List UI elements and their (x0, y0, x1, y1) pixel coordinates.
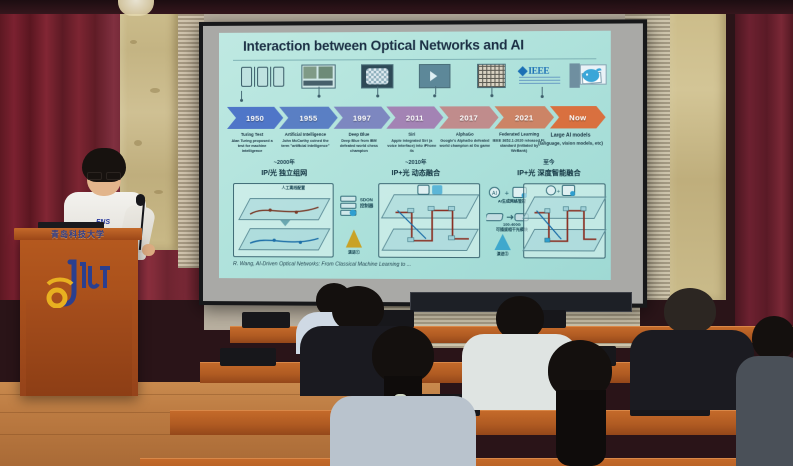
evolution-arrow-2 (494, 234, 510, 250)
sdon-controller-icon (340, 195, 358, 222)
evolution-step-2-label: 演进② (486, 251, 519, 256)
audience-shoulders (330, 396, 476, 466)
timeline-icon-row: IEEE (229, 63, 604, 99)
timeline-caption-text: Google's AlphaGo defeated world champion… (440, 138, 490, 148)
venue-name-plaque: 青岛科技大学 (18, 229, 138, 240)
microphone-head (136, 194, 145, 206)
projection-screen: Interaction between Optical Networks and… (199, 19, 647, 307)
timeline-caption-heading: Turing Test (228, 132, 276, 138)
lecture-hall-photo: Interaction between Optical Networks and… (0, 0, 793, 466)
chessboard-icon (361, 64, 393, 88)
timeline-caption-heading: Artificial Intelligence (280, 132, 330, 138)
timeline-chevron-2017: 2017 (439, 106, 498, 128)
timeline-caption-heading: Large AI models (536, 132, 606, 139)
timeline-caption: AlphaGo Google's AlphaGo defeated world … (439, 132, 490, 150)
timeline-year: 1955 (299, 113, 317, 122)
timeline-chevron-2021: 2021 (494, 106, 554, 128)
timeline-chevron-1997: 1997 (334, 107, 391, 129)
timeline-caption: Siri Apple integrated Siri (a voice inte… (386, 132, 437, 155)
era-year: 至今 (494, 158, 603, 166)
timeline-caption: Large AI models (language, vision models… (536, 132, 606, 146)
slide-title: Interaction between Optical Networks and… (243, 37, 524, 54)
timeline-chevron-now: Now (550, 106, 606, 128)
era-header-3: 至今 IP+光 深度智能融合 (494, 158, 603, 178)
go-board-icon (477, 64, 506, 88)
ieee-logo-icon: IEEE (519, 66, 560, 85)
controller-node-icon-3: + (546, 183, 577, 201)
timeline-year: Now (569, 113, 586, 122)
timeline-year: 1950 (246, 113, 264, 122)
timeline-year: 2017 (460, 113, 478, 122)
qust-logo (40, 258, 112, 308)
svg-text:+: + (557, 189, 561, 195)
era-year: ~2000年 (231, 158, 338, 166)
audience-hair (556, 390, 606, 466)
era-header-1: ~2000年 IP/光 独立组网 (231, 158, 338, 178)
era-title: IP/光 独立组网 (231, 168, 338, 178)
slide-citation: R. Wang, AI-Driven Optical Networks: Fro… (233, 261, 411, 268)
evolution-step-1-label: 演进① (338, 250, 370, 255)
dartmouth-photo-icon (301, 64, 335, 88)
timeline-caption-text: (language, vision models, etc) (538, 140, 603, 145)
era-year: ~2010年 (360, 158, 472, 166)
timeline-caption-text: Alan Turing proposed a test for machine … (231, 139, 272, 154)
seat-back (242, 312, 290, 328)
timeline-chevron-2011: 2011 (386, 106, 443, 128)
audience-shoulders (736, 356, 793, 466)
ai-timeline: 1950 1955 1997 2011 2017 2021 No (227, 106, 606, 129)
audience-head (664, 288, 716, 334)
timeline-caption: Artificial Intelligence John McCarthy co… (280, 132, 330, 149)
svg-text:+: + (505, 190, 509, 197)
era-header-2: ~2010年 IP+光 动态融合 (360, 158, 472, 178)
era-title: IP+光 动态融合 (360, 168, 472, 178)
timeline-caption-text: Apple integrated Siri (a voice interface… (387, 138, 436, 153)
curtain-right (735, 0, 793, 330)
deepseek-whale-icon (580, 64, 603, 92)
manual-config-label: 人工离线配置 (261, 185, 325, 190)
presentation-slide: Interaction between Optical Networks and… (219, 31, 611, 280)
timeline-year: 2011 (406, 113, 424, 122)
timeline-caption-heading: Deep Blue (335, 132, 384, 138)
timeline-year: 1997 (353, 113, 371, 122)
speaker-glasses (87, 172, 121, 178)
title-divider (233, 58, 596, 61)
timeline-chevron-1950: 1950 (227, 107, 283, 129)
timeline-caption-text: Deep Blue from IBM defeated world chess … (340, 138, 378, 153)
controller-node-icon-2 (417, 183, 443, 201)
network-diagram-panel-1 (233, 183, 334, 258)
timeline-caption: Deep Blue Deep Blue from IBM defeated wo… (335, 132, 384, 155)
timeline-caption-text: John McCarthy coined the term "artificia… (281, 138, 329, 147)
siri-icon (419, 64, 451, 88)
timeline-caption-heading: AlphaGo (439, 132, 490, 138)
podium-base (26, 300, 132, 396)
evolution-arrow-1 (346, 229, 362, 247)
speaker-hand (142, 244, 155, 256)
timeline-chevron-1955: 1955 (279, 107, 338, 129)
timeline-caption: Turing Test Alan Turing proposed a test … (228, 132, 276, 155)
timeline-caption-heading: Siri (386, 132, 437, 138)
stone-column-right (670, 0, 726, 300)
audience-head (752, 316, 793, 360)
svg-text:AI: AI (492, 191, 497, 197)
seat-back (220, 348, 276, 366)
timeline-year: 2021 (515, 113, 533, 122)
era-title: IP+光 深度智能融合 (494, 168, 603, 178)
